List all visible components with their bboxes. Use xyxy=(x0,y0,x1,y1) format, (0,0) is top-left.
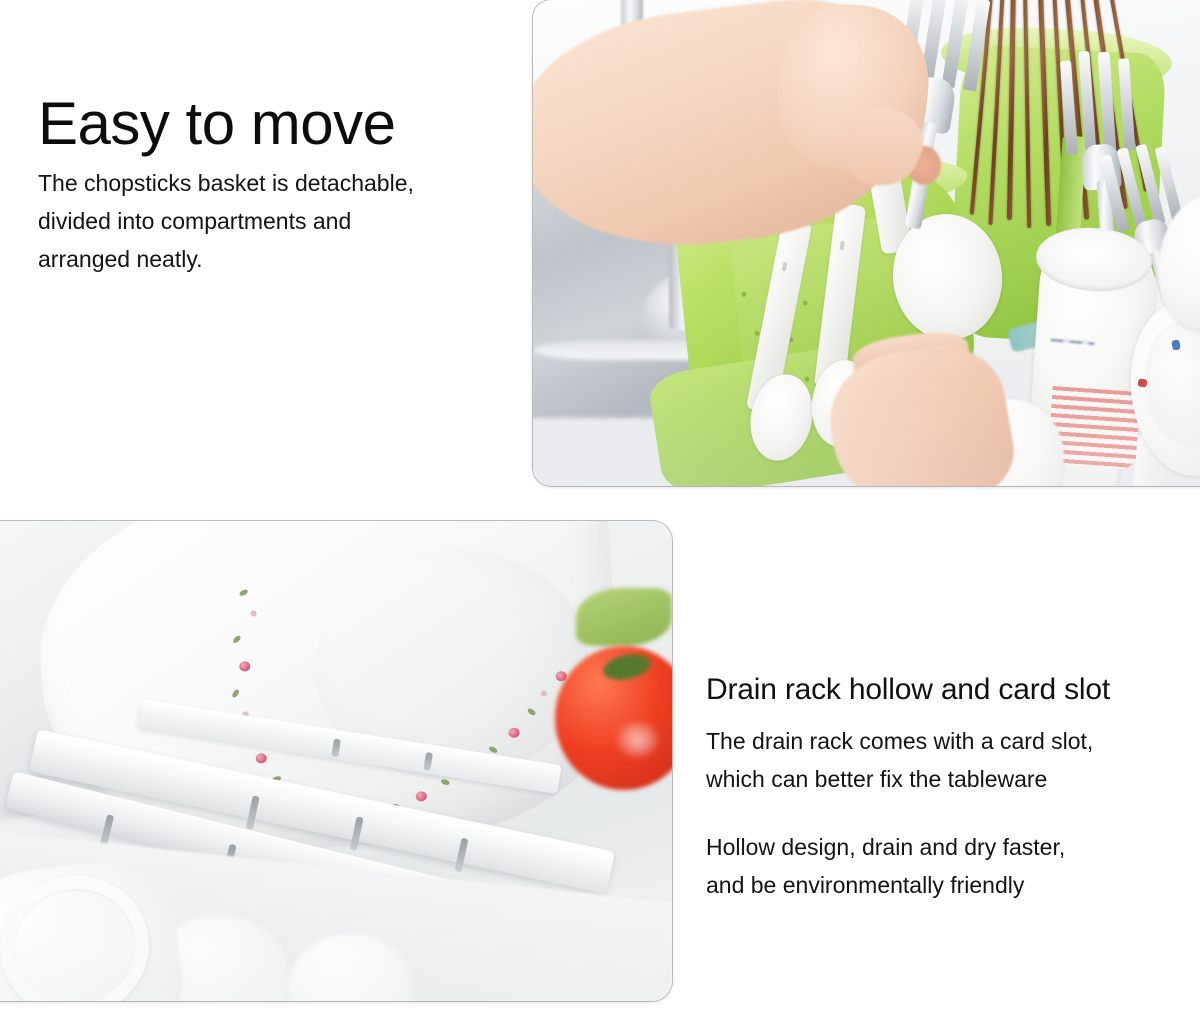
paragraph-spacer xyxy=(706,798,1110,828)
body-line: The drain rack comes with a card slot, xyxy=(706,722,1110,760)
feature-block-easy-to-move: Easy to move The chopsticks basket is de… xyxy=(38,92,414,278)
tomato-highlight xyxy=(617,723,658,757)
heading-easy-to-move: Easy to move xyxy=(38,92,414,156)
body-line: arranged neatly. xyxy=(38,240,414,278)
heading-drain-rack: Drain rack hollow and card slot xyxy=(706,672,1110,708)
paragraph-hollow-design: Hollow design, drain and dry faster, and… xyxy=(706,828,1110,904)
product-feature-banner: Easy to move The chopsticks basket is de… xyxy=(0,0,1200,1014)
body-line: The chopsticks basket is detachable, xyxy=(38,164,414,202)
product-photo-drain-rack-card-slot xyxy=(0,521,672,1001)
paragraph-card-slot: The drain rack comes with a card slot, w… xyxy=(706,722,1110,798)
body-line: which can better fix the tableware xyxy=(706,760,1110,798)
body-line: Hollow design, drain and dry faster, xyxy=(706,828,1110,866)
green-vegetable xyxy=(576,588,672,646)
paragraph-easy-to-move: The chopsticks basket is detachable, div… xyxy=(38,164,414,278)
photo-scene-top: ▬▬▭▬▬▭▬ xyxy=(533,0,1200,486)
card-slot xyxy=(331,738,341,757)
depth-of-field-overlay xyxy=(0,857,672,1001)
body-line: and be environmentally friendly xyxy=(706,866,1110,904)
depth-of-field-overlay xyxy=(533,379,1200,486)
photo-scene-bottom xyxy=(0,521,672,1001)
body-line: divided into compartments and xyxy=(38,202,414,240)
product-photo-chopsticks-basket: ▬▬▭▬▬▭▬ xyxy=(533,0,1200,486)
feature-block-drain-rack: Drain rack hollow and card slot The drai… xyxy=(706,672,1110,904)
card-slot xyxy=(423,752,433,771)
